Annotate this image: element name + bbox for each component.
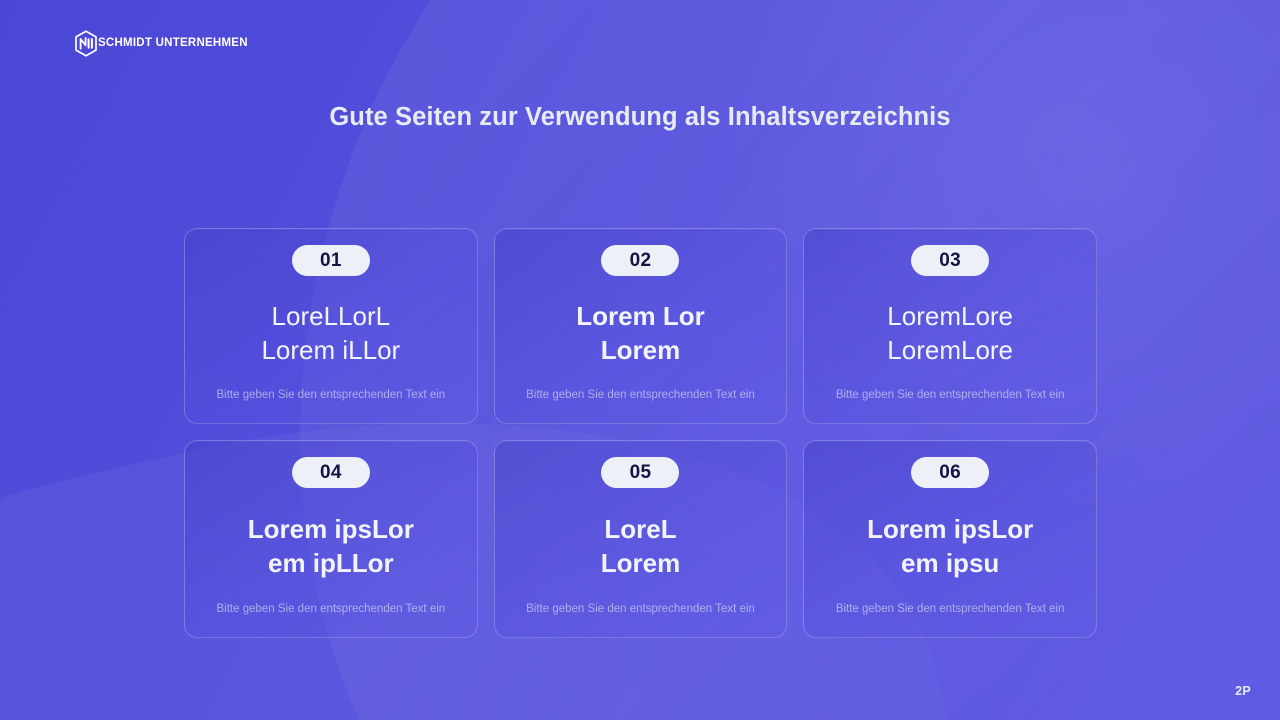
card-title: Lorem ipsLor em ipsu — [804, 488, 1096, 604]
toc-card-grid: 01 LoreLLorL Lorem iLLor Bitte geben Sie… — [184, 228, 1097, 638]
card-number-badge: 01 — [292, 245, 370, 276]
card-caption: Bitte geben Sie den entsprechenden Text … — [495, 604, 787, 638]
card-title-line-2: Lorem — [601, 333, 680, 367]
card-caption: Bitte geben Sie den entsprechenden Text … — [804, 390, 1096, 424]
hexagon-n-logo-icon — [74, 30, 98, 57]
card-title: Lorem ipsLor em ipLLor — [185, 488, 477, 604]
card-number-badge: 02 — [601, 245, 679, 276]
page-title: Gute Seiten zur Verwendung als Inhaltsve… — [0, 103, 1280, 132]
toc-card[interactable]: 03 LoremLore LoremLore Bitte geben Sie d… — [803, 228, 1097, 424]
card-number-badge: 04 — [292, 457, 370, 488]
card-caption: Bitte geben Sie den entsprechenden Text … — [495, 390, 787, 424]
card-title: Lorem Lor Lorem — [495, 276, 787, 390]
card-title-line-1: Lorem Lor — [576, 299, 705, 333]
card-number-badge: 03 — [911, 245, 989, 276]
card-title-line-2: Lorem — [601, 546, 680, 580]
card-title-line-2: LoremLore — [887, 333, 1013, 367]
toc-card[interactable]: 06 Lorem ipsLor em ipsu Bitte geben Sie … — [803, 440, 1097, 638]
page-number: 2P — [1235, 684, 1251, 698]
card-title: LoreL Lorem — [495, 488, 787, 604]
toc-card[interactable]: 05 LoreL Lorem Bitte geben Sie den entsp… — [494, 440, 788, 638]
card-title-line-1: LoreLLorL — [272, 299, 391, 333]
card-title: LoreLLorL Lorem iLLor — [185, 276, 477, 390]
card-caption: Bitte geben Sie den entsprechenden Text … — [185, 390, 477, 424]
card-title-line-2: em ipLLor — [268, 546, 394, 580]
toc-card[interactable]: 01 LoreLLorL Lorem iLLor Bitte geben Sie… — [184, 228, 478, 424]
toc-card[interactable]: 02 Lorem Lor Lorem Bitte geben Sie den e… — [494, 228, 788, 424]
card-number-badge: 05 — [601, 457, 679, 488]
toc-card[interactable]: 04 Lorem ipsLor em ipLLor Bitte geben Si… — [184, 440, 478, 638]
card-caption: Bitte geben Sie den entsprechenden Text … — [804, 604, 1096, 638]
card-title-line-2: em ipsu — [901, 546, 999, 580]
card-title-line-2: Lorem iLLor — [261, 333, 400, 367]
card-caption: Bitte geben Sie den entsprechenden Text … — [185, 604, 477, 638]
brand-name: SCHMIDT UNTERNEHMEN — [98, 38, 248, 50]
card-number-badge: 06 — [911, 457, 989, 488]
card-title-line-1: Lorem ipsLor — [248, 512, 414, 546]
card-title-line-1: LoreL — [604, 512, 676, 546]
card-title-line-1: LoremLore — [887, 299, 1013, 333]
card-title: LoremLore LoremLore — [804, 276, 1096, 390]
slide-canvas: SCHMIDT UNTERNEHMEN Gute Seiten zur Verw… — [0, 0, 1280, 720]
brand-logo: SCHMIDT UNTERNEHMEN — [74, 30, 248, 57]
card-title-line-1: Lorem ipsLor — [867, 512, 1033, 546]
